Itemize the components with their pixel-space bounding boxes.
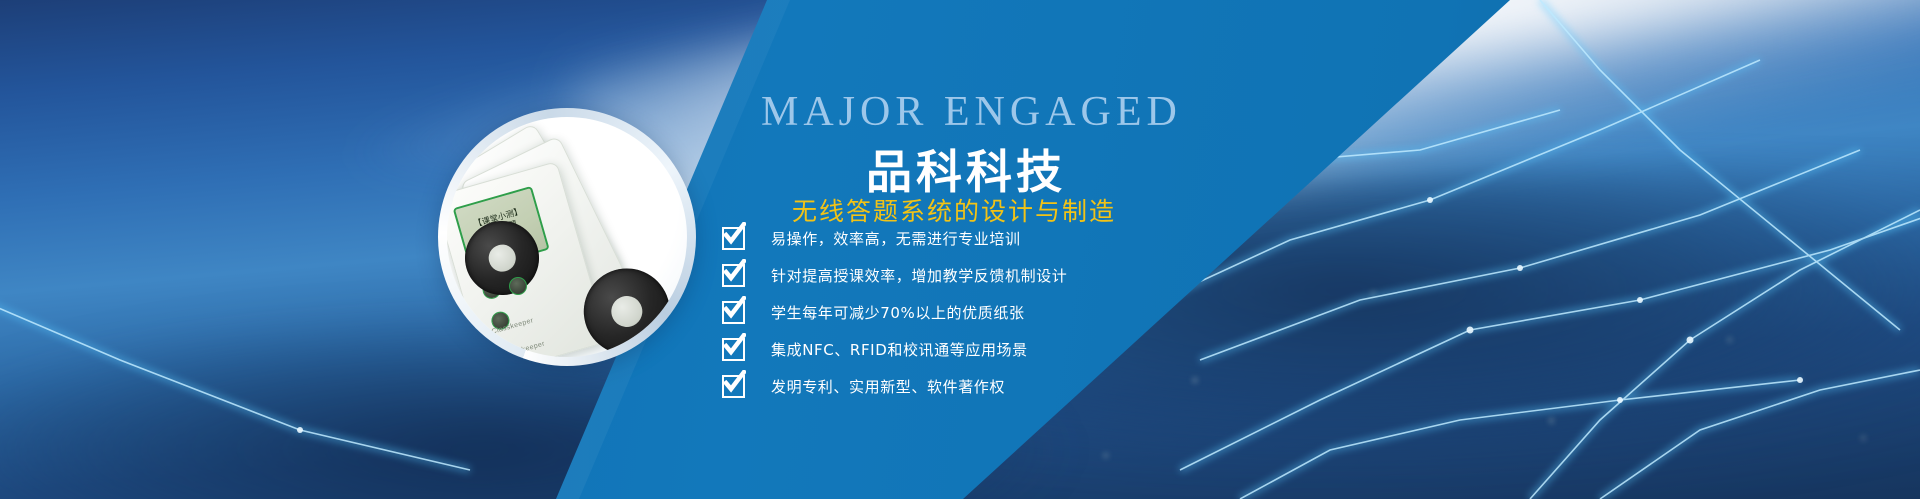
feature-item: 集成NFC、RFID和校讯通等应用场景 — [722, 335, 1067, 364]
checkmark-icon — [722, 301, 745, 324]
feature-item: 针对提高授课效率，增加教学反馈机制设计 — [722, 261, 1067, 290]
device-brand-mark: Classkeeper — [502, 340, 546, 357]
feature-label: 针对提高授课效率，增加教学反馈机制设计 — [771, 265, 1067, 286]
feature-label: 发明专利、实用新型、软件著作权 — [771, 376, 1005, 397]
feature-item: 学生每年可减少70%以上的优质纸张 — [722, 298, 1067, 327]
feature-list: 易操作，效率高，无需进行专业培训 针对提高授课效率，增加教学反馈机制设计 学生每… — [722, 224, 1067, 409]
device-button-accent — [509, 277, 527, 295]
checkmark-icon — [722, 227, 745, 250]
circle-inner: 【课堂小测】 作业答题 系统设置 Classkeeper Classkeeper — [447, 117, 687, 357]
feature-label: 集成NFC、RFID和校讯通等应用场景 — [771, 339, 1028, 360]
feature-item: 发明专利、实用新型、软件著作权 — [722, 372, 1067, 401]
banner-subtitle: 无线答题系统的设计与制造 — [792, 192, 1116, 228]
checkmark-icon — [722, 338, 745, 361]
product-image-circle: 【课堂小测】 作业答题 系统设置 Classkeeper Classkeeper — [438, 108, 696, 366]
checkmark-icon — [722, 375, 745, 398]
feature-label: 易操作，效率高，无需进行专业培训 — [771, 228, 1021, 249]
checkmark-icon — [722, 264, 745, 287]
promo-banner: 【课堂小测】 作业答题 系统设置 Classkeeper Classkeeper… — [0, 0, 1920, 499]
english-heading: MAJOR ENGAGED — [761, 88, 1182, 136]
banner-text-block: MAJOR ENGAGED 品科科技 无线答题系统的设计与制造 易操作，效率高，… — [756, 0, 1516, 499]
feature-item: 易操作，效率高，无需进行专业培训 — [722, 224, 1067, 253]
feature-label: 学生每年可减少70%以上的优质纸张 — [771, 302, 1025, 323]
